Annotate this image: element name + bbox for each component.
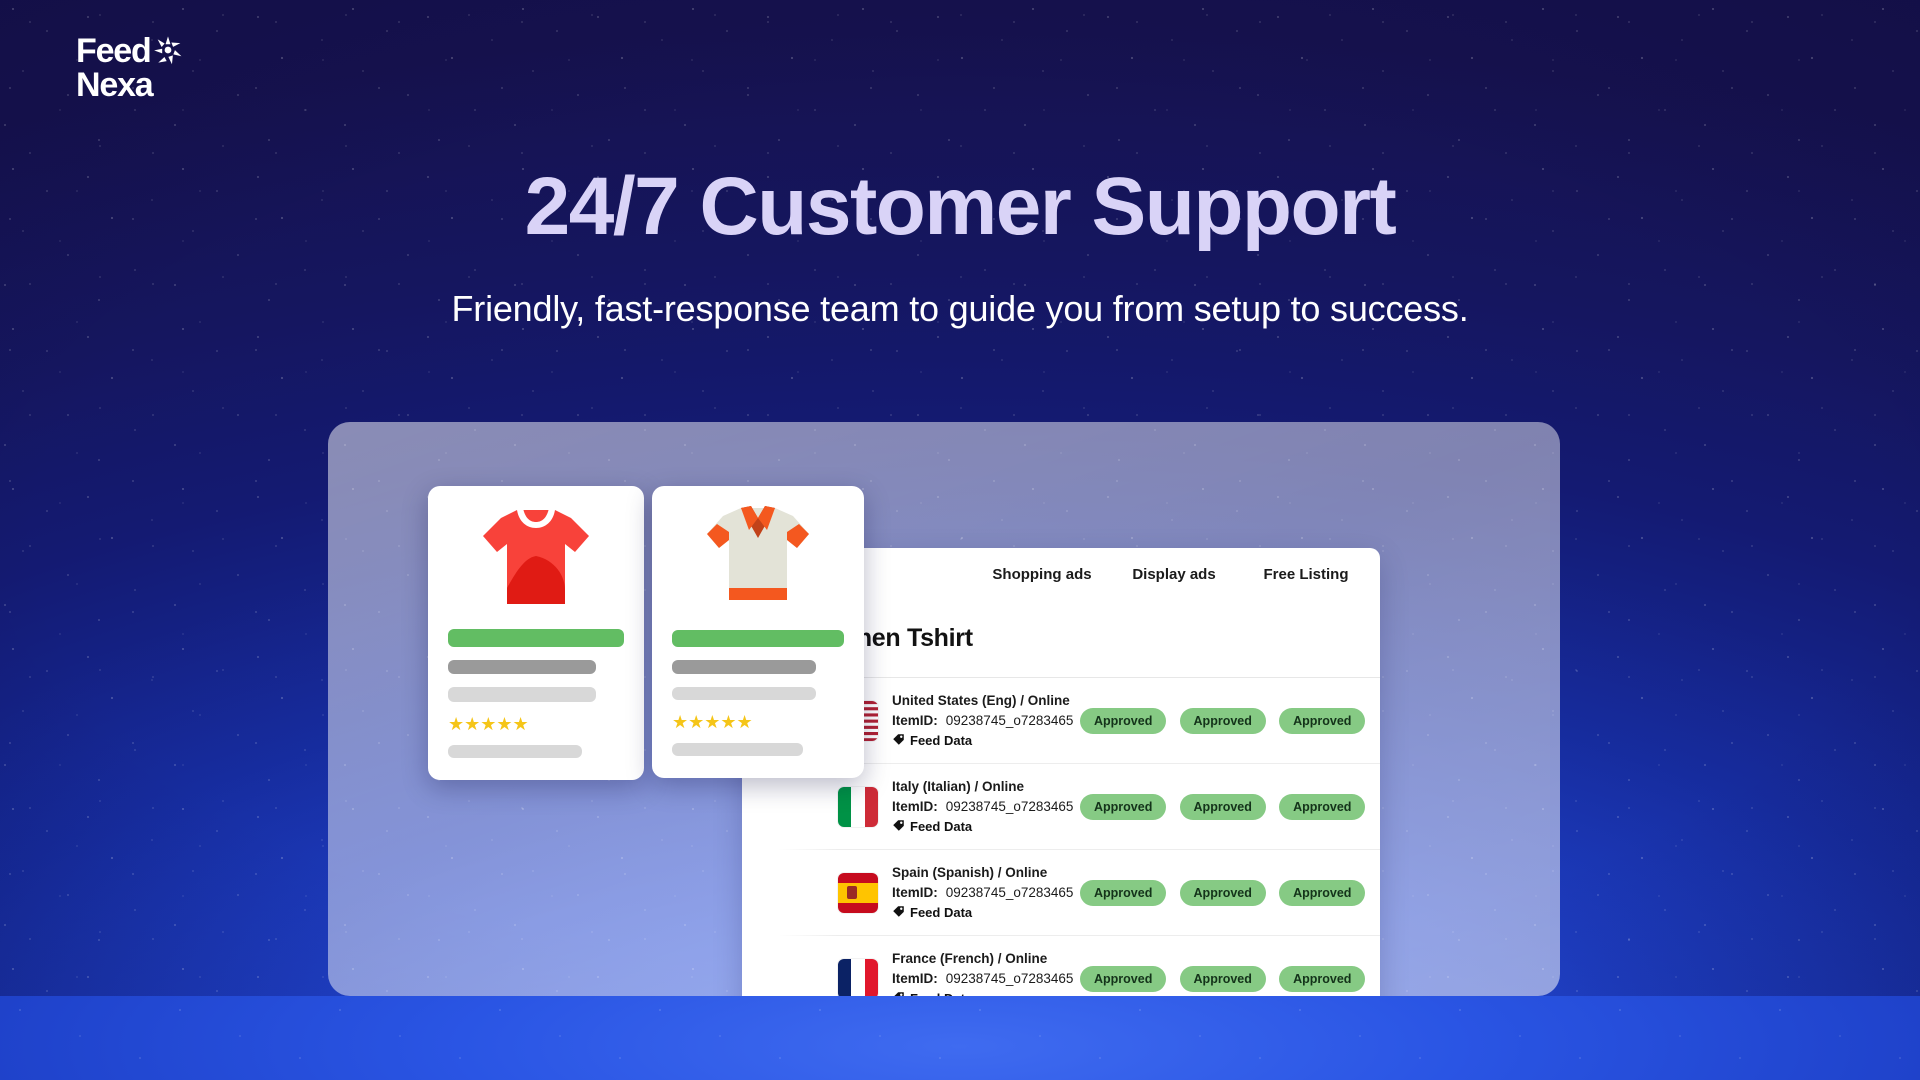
- item-id-label: ItemID:: [892, 713, 938, 728]
- product-card-polo-shirt[interactable]: ★★★★★: [652, 486, 864, 778]
- cell-display-ads: Approved: [1173, 708, 1273, 734]
- row-info: Spain (Spanish) / Online ItemID:09238745…: [838, 865, 1073, 921]
- table-row[interactable]: Spain (Spanish) / Online ItemID:09238745…: [742, 850, 1380, 936]
- status-badge: Approved: [1180, 794, 1266, 820]
- item-id-value: 09238745_o7283465: [946, 799, 1074, 814]
- table-header-shopping-ads: Shopping ads: [976, 566, 1108, 583]
- card-placeholder-bar-light: [672, 687, 816, 701]
- row-meta: Italy (Italian) / Online ItemID:09238745…: [892, 779, 1073, 835]
- cell-shopping-ads: Approved: [1073, 880, 1173, 906]
- cell-display-ads: Approved: [1173, 880, 1273, 906]
- row-meta: Spain (Spanish) / Online ItemID:09238745…: [892, 865, 1073, 921]
- status-badge: Approved: [1180, 880, 1266, 906]
- cell-shopping-ads: Approved: [1073, 794, 1173, 820]
- item-id-value: 09238745_o7283465: [946, 713, 1074, 728]
- status-badge: Approved: [1180, 708, 1266, 734]
- polo-shirt-icon: [699, 504, 817, 616]
- tag-icon: [892, 733, 905, 749]
- feed-data-label: Feed Data: [910, 819, 972, 834]
- tag-icon: [892, 905, 905, 921]
- cell-free-listing: Approved: [1272, 794, 1372, 820]
- row-item-id: ItemID:09238745_o7283465: [892, 799, 1073, 814]
- status-badge: Approved: [1080, 966, 1166, 992]
- feed-data-label: Feed Data: [910, 733, 972, 748]
- brand-name-line1: Feed: [76, 36, 151, 68]
- item-id-value: 09238745_o7283465: [946, 971, 1074, 986]
- item-id-value: 09238745_o7283465: [946, 885, 1074, 900]
- row-feed-data: Feed Data: [892, 905, 1073, 921]
- card-accent-bar: [672, 630, 844, 647]
- table-header-display-ads: Display ads: [1108, 566, 1240, 583]
- card-placeholder-bar-light2: [448, 745, 582, 758]
- row-location: Italy (Italian) / Online: [892, 779, 1073, 794]
- page-title: 24/7 Customer Support: [0, 160, 1920, 254]
- row-location: Spain (Spanish) / Online: [892, 865, 1073, 880]
- card-placeholder-bar-light2: [672, 743, 803, 756]
- row-meta: United States (Eng) / Online ItemID:0923…: [892, 693, 1073, 749]
- item-id-label: ItemID:: [892, 799, 938, 814]
- card-accent-bar: [448, 629, 624, 647]
- row-location: France (French) / Online: [892, 951, 1073, 966]
- item-id-label: ItemID:: [892, 971, 938, 986]
- rating-stars: ★★★★★: [672, 713, 753, 731]
- row-feed-data: Feed Data: [892, 733, 1073, 749]
- status-badge: Approved: [1080, 794, 1166, 820]
- cell-free-listing: Approved: [1272, 708, 1372, 734]
- feed-data-label: Feed Data: [910, 905, 972, 920]
- tshirt-icon: [477, 504, 595, 615]
- starburst-icon: [153, 35, 183, 70]
- cell-free-listing: Approved: [1272, 880, 1372, 906]
- card-placeholder-bar-dark: [448, 660, 596, 674]
- status-badge: Approved: [1180, 966, 1266, 992]
- cell-display-ads: Approved: [1173, 794, 1273, 820]
- cell-display-ads: Approved: [1173, 966, 1273, 992]
- product-card-red-tshirt[interactable]: ★★★★★: [428, 486, 644, 780]
- status-badge: Approved: [1279, 880, 1365, 906]
- row-info: United States (Eng) / Online ItemID:0923…: [838, 693, 1073, 749]
- row-item-id: ItemID:09238745_o7283465: [892, 971, 1073, 986]
- item-id-label: ItemID:: [892, 885, 938, 900]
- cell-shopping-ads: Approved: [1073, 966, 1173, 992]
- table-header-free-listing: Free Listing: [1240, 566, 1372, 583]
- cell-shopping-ads: Approved: [1073, 708, 1173, 734]
- it-flag-icon: [838, 787, 878, 827]
- rating-stars: ★★★★★: [448, 715, 529, 733]
- brand-logo[interactable]: Feed Nexa: [76, 36, 183, 102]
- cell-free-listing: Approved: [1272, 966, 1372, 992]
- status-badge: Approved: [1279, 966, 1365, 992]
- row-info: Italy (Italian) / Online ItemID:09238745…: [838, 779, 1073, 835]
- card-placeholder-bar-light: [448, 687, 596, 701]
- tag-icon: [892, 819, 905, 835]
- panel-bottom-starfield: [0, 996, 1920, 1080]
- status-badge: Approved: [1279, 708, 1365, 734]
- status-badge: Approved: [1080, 708, 1166, 734]
- row-location: United States (Eng) / Online: [892, 693, 1073, 708]
- status-badge: Approved: [1279, 794, 1365, 820]
- row-feed-data: Feed Data: [892, 819, 1073, 835]
- status-badge: Approved: [1080, 880, 1166, 906]
- brand-name-line2: Nexa: [76, 70, 183, 102]
- row-item-id: ItemID:09238745_o7283465: [892, 885, 1073, 900]
- row-item-id: ItemID:09238745_o7283465: [892, 713, 1073, 728]
- card-placeholder-bar-dark: [672, 660, 816, 674]
- page-subtitle: Friendly, fast-response team to guide yo…: [0, 288, 1920, 330]
- es-flag-icon: [838, 873, 878, 913]
- fr-flag-icon: [838, 959, 878, 999]
